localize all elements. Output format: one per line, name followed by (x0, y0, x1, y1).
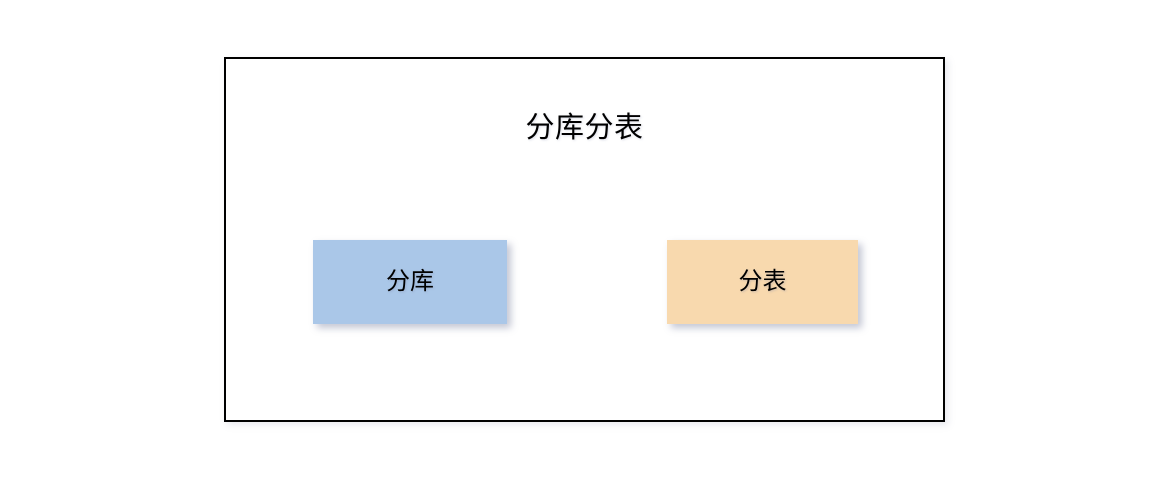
node-shard-table-label: 分表 (739, 268, 787, 296)
diagram-outer-frame: 分库分表 分库 分表 (224, 57, 945, 422)
node-shard-database[interactable]: 分库 (313, 240, 507, 324)
node-shard-database-label: 分库 (386, 268, 434, 296)
node-shard-table[interactable]: 分表 (667, 240, 858, 324)
diagram-canvas: 分库分表 分库 分表 (0, 0, 1154, 478)
diagram-title: 分库分表 (226, 111, 943, 145)
